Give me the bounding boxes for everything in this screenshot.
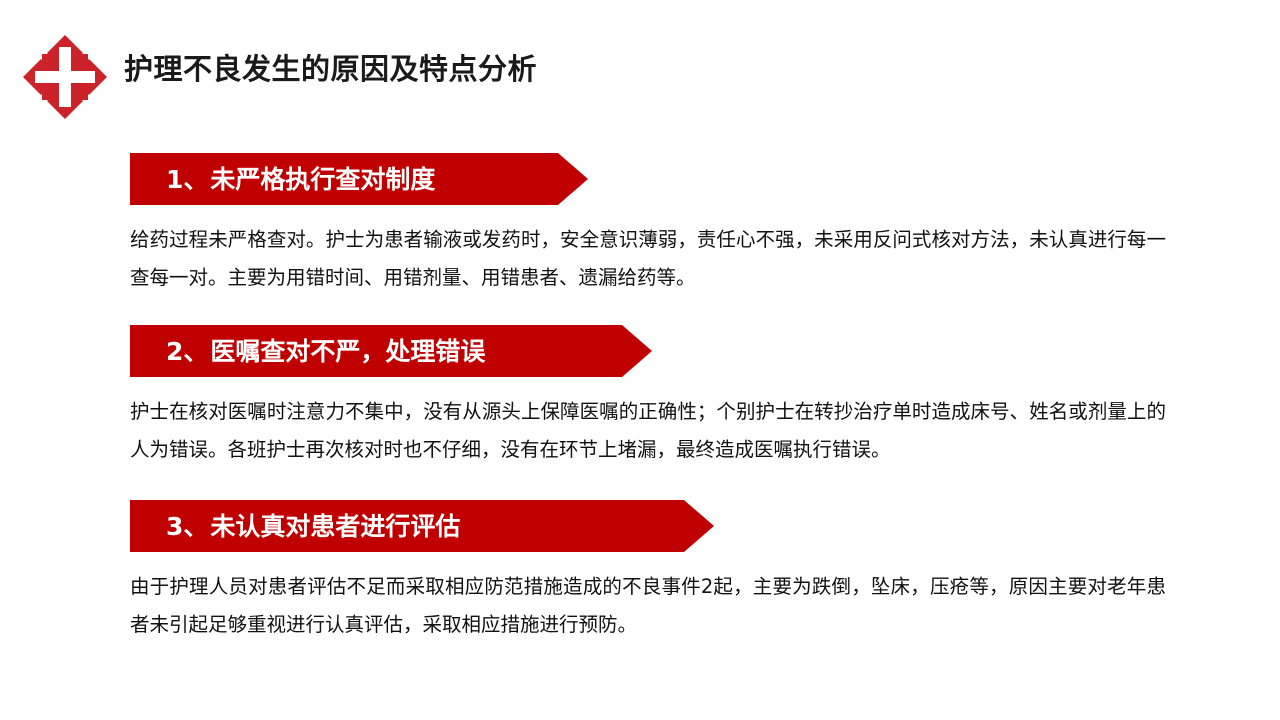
section-1-heading: 未严格执行查对制度 bbox=[210, 167, 435, 192]
page-title: 护理不良发生的原因及特点分析 bbox=[124, 50, 537, 89]
section-1: 1、 未严格执行查对制度 给药过程未严格查对。护士为患者输液或发药时，安全意识薄… bbox=[0, 153, 1280, 297]
section-2: 2、 医嘱查对不严，处理错误 护士在核对医嘱时注意力不集中，没有从源头上保障医嘱… bbox=[0, 325, 1280, 469]
section-3-banner[interactable]: 3、 未认真对患者进行评估 bbox=[130, 500, 684, 552]
slide-header: 护理不良发生的原因及特点分析 bbox=[0, 0, 1280, 125]
section-3-heading: 未认真对患者进行评估 bbox=[210, 514, 460, 539]
section-3: 3、 未认真对患者进行评估 由于护理人员对患者评估不足而采取相应防范措施造成的不… bbox=[0, 500, 1280, 644]
section-3-index: 3、 bbox=[166, 514, 208, 539]
section-2-heading: 医嘱查对不严，处理错误 bbox=[210, 339, 485, 364]
medical-cross-logo-icon bbox=[21, 33, 109, 121]
section-2-index: 2、 bbox=[166, 339, 208, 364]
section-1-body: 给药过程未严格查对。护士为患者输液或发药时，安全意识薄弱，责任心不强，未采用反问… bbox=[130, 221, 1166, 297]
section-2-body: 护士在核对医嘱时注意力不集中，没有从源头上保障医嘱的正确性；个别护士在转抄治疗单… bbox=[130, 393, 1166, 469]
section-1-index: 1、 bbox=[166, 167, 208, 192]
section-1-banner[interactable]: 1、 未严格执行查对制度 bbox=[130, 153, 558, 205]
section-2-banner[interactable]: 2、 医嘱查对不严，处理错误 bbox=[130, 325, 622, 377]
section-3-body: 由于护理人员对患者评估不足而采取相应防范措施造成的不良事件2起，主要为跌倒，坠床… bbox=[130, 568, 1166, 644]
